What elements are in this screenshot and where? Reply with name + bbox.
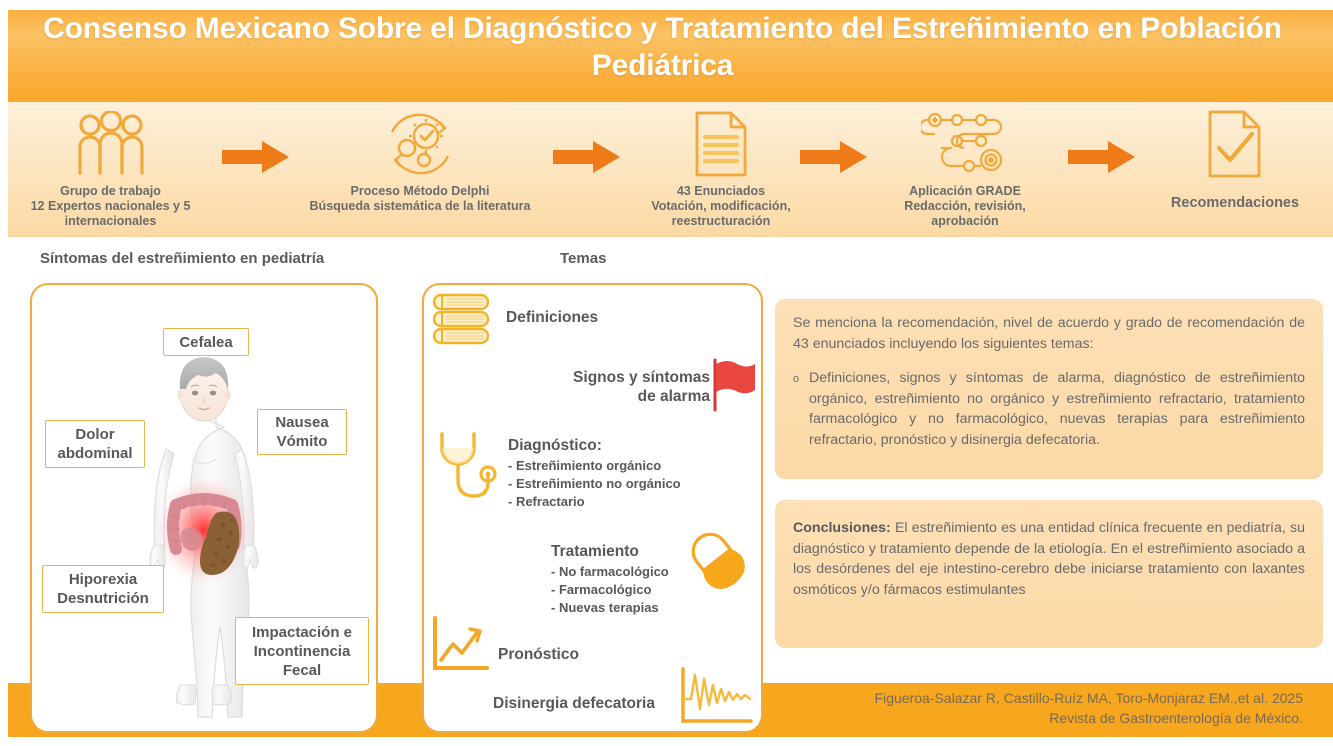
- tema-label-signos-alarma: Signos y síntomas de alarma: [540, 368, 710, 406]
- arrow-right-icon-3: [800, 140, 868, 179]
- symptoms-section-title: Síntomas del estreñimiento en pediatría: [40, 250, 324, 267]
- tema-sublist-diagnostico-1: - Estreñimiento orgánico: [508, 457, 661, 475]
- citation-line-1: Figueroa-Salazar R, Castillo-Ruíz MA, To…: [743, 688, 1303, 708]
- recommendations-intro: Se menciona la recomendación, nivel de a…: [793, 313, 1305, 354]
- process-step-4-label: Aplicación GRADE Redacción, revisión, ap…: [904, 184, 1026, 229]
- process-step-1-label: Grupo de trabajo 12 Expertos nacionales …: [31, 184, 191, 229]
- process-step-4: Aplicación GRADE Redacción, revisión, ap…: [880, 102, 1050, 237]
- arrow-right-icon-4: [1068, 140, 1136, 179]
- tema-label-definiciones: Definiciones: [506, 308, 598, 327]
- document-lines-icon: [691, 108, 751, 180]
- growth-chart-icon: [429, 616, 495, 681]
- tema-sublist-tratamiento-2: - Farmacológico: [551, 581, 651, 599]
- symptom-label-cefalea: Cefalea: [163, 328, 249, 356]
- citation: Figueroa-Salazar R, Castillo-Ruíz MA, To…: [743, 688, 1303, 728]
- book-stack-icon: [430, 291, 492, 354]
- infographic-poster: Consenso Mexicano Sobre el Diagnóstico y…: [0, 0, 1333, 746]
- recommendations-bullet-text: Definiciones, signos y síntomas de alarm…: [809, 368, 1305, 450]
- process-step-3: 43 Enunciados Votación, modificación, re…: [626, 102, 816, 237]
- red-flag-icon: [711, 358, 757, 417]
- arrow-right-icon-2: [553, 140, 621, 179]
- conclusions-label: Conclusiones:: [793, 520, 891, 536]
- process-step-1: Grupo de trabajo 12 Expertos nacionales …: [8, 102, 213, 237]
- tema-label-diagnostico: Diagnóstico:: [508, 436, 602, 455]
- conclusions-paragraph: Conclusiones: El estreñimiento es una en…: [793, 518, 1305, 600]
- bullet-marker: o: [793, 368, 809, 450]
- symptom-label-impactacion-incontinencia: Impactación e Incontinencia Fecal: [235, 617, 369, 685]
- tema-sublist-diagnostico-3: - Refractario: [508, 493, 585, 511]
- tema-sublist-tratamiento-3: - Nuevas terapias: [551, 599, 659, 617]
- people-group-icon: [72, 108, 150, 180]
- tema-label-tratamiento: Tratamiento: [551, 542, 639, 561]
- gears-cycle-check-icon: [378, 108, 462, 180]
- citation-line-2: Revista de Gastroenterología de México.: [743, 708, 1303, 728]
- process-step-5-label: Recomendaciones: [1171, 196, 1299, 211]
- recommendations-box: Se menciona la recomendación, nivel de a…: [775, 299, 1323, 479]
- process-step-2-label: Proceso Método Delphi Búsqueda sistemáti…: [310, 184, 531, 214]
- conclusions-box: Conclusiones: El estreñimiento es una en…: [775, 500, 1323, 648]
- stethoscope-icon: [430, 430, 502, 519]
- page-title: Consenso Mexicano Sobre el Diagnóstico y…: [30, 10, 1295, 84]
- symptom-label-nausea-vomito: Nausea Vómito: [257, 409, 347, 455]
- network-nodes-target-icon: [921, 108, 1009, 180]
- symptom-label-dolor-abdominal: Dolor abdominal: [45, 420, 145, 468]
- temas-section-title: Temas: [560, 250, 606, 267]
- process-step-5: Recomendaciones: [1140, 102, 1330, 237]
- tema-sublist-diagnostico-2: - Estreñimiento no orgánico: [508, 475, 681, 493]
- document-check-icon: [1204, 108, 1266, 180]
- process-step-2: Proceso Método Delphi Búsqueda sistemáti…: [295, 102, 545, 237]
- arrow-right-icon-1: [222, 140, 290, 179]
- tema-label-disinergia: Disinergia defecatoria: [493, 694, 655, 713]
- tema-label-pronostico: Pronóstico: [498, 645, 579, 664]
- symptom-label-hiporexia-desnutricion: Hiporexia Desnutrición: [42, 565, 164, 613]
- process-step-3-label: 43 Enunciados Votación, modificación, re…: [651, 184, 790, 229]
- tema-sublist-tratamiento-1: - No farmacológico: [551, 563, 669, 581]
- pill-capsule-icon: [688, 528, 746, 597]
